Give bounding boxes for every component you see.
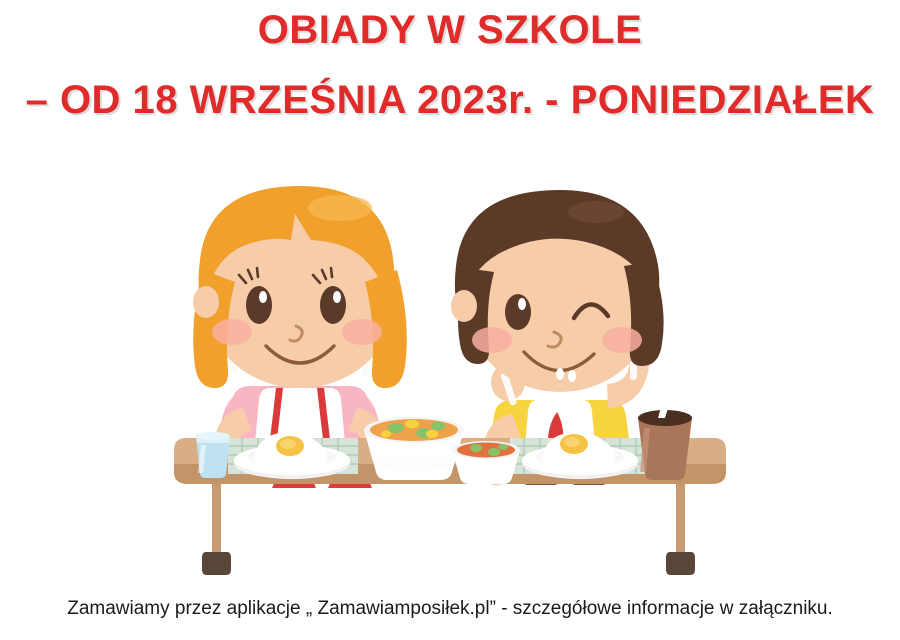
cola-cup	[638, 388, 692, 480]
table-leg-left	[212, 478, 221, 560]
caption-text: Zamawiamy przez aplikacje „ Zamawiamposi…	[0, 596, 900, 622]
poster-canvas: OBIADY W SZKOLE – OD 18 WRZEŚNIA 2023r. …	[0, 0, 900, 640]
soup-bowl-large	[364, 417, 464, 480]
lunch-illustration	[0, 150, 900, 580]
girl-head	[193, 186, 407, 388]
title-line-1: OBIADY W SZKOLE	[0, 6, 900, 54]
table-foot-left	[202, 552, 231, 575]
title-line-2: – OD 18 WRZEŚNIA 2023r. - PONIEDZIAŁEK	[0, 76, 900, 124]
table-leg-right	[676, 478, 685, 560]
water-glass	[196, 432, 230, 478]
table-foot-right	[666, 552, 695, 575]
page-title: OBIADY W SZKOLE – OD 18 WRZEŚNIA 2023r. …	[0, 0, 900, 124]
soup-bowl-small	[452, 441, 520, 484]
